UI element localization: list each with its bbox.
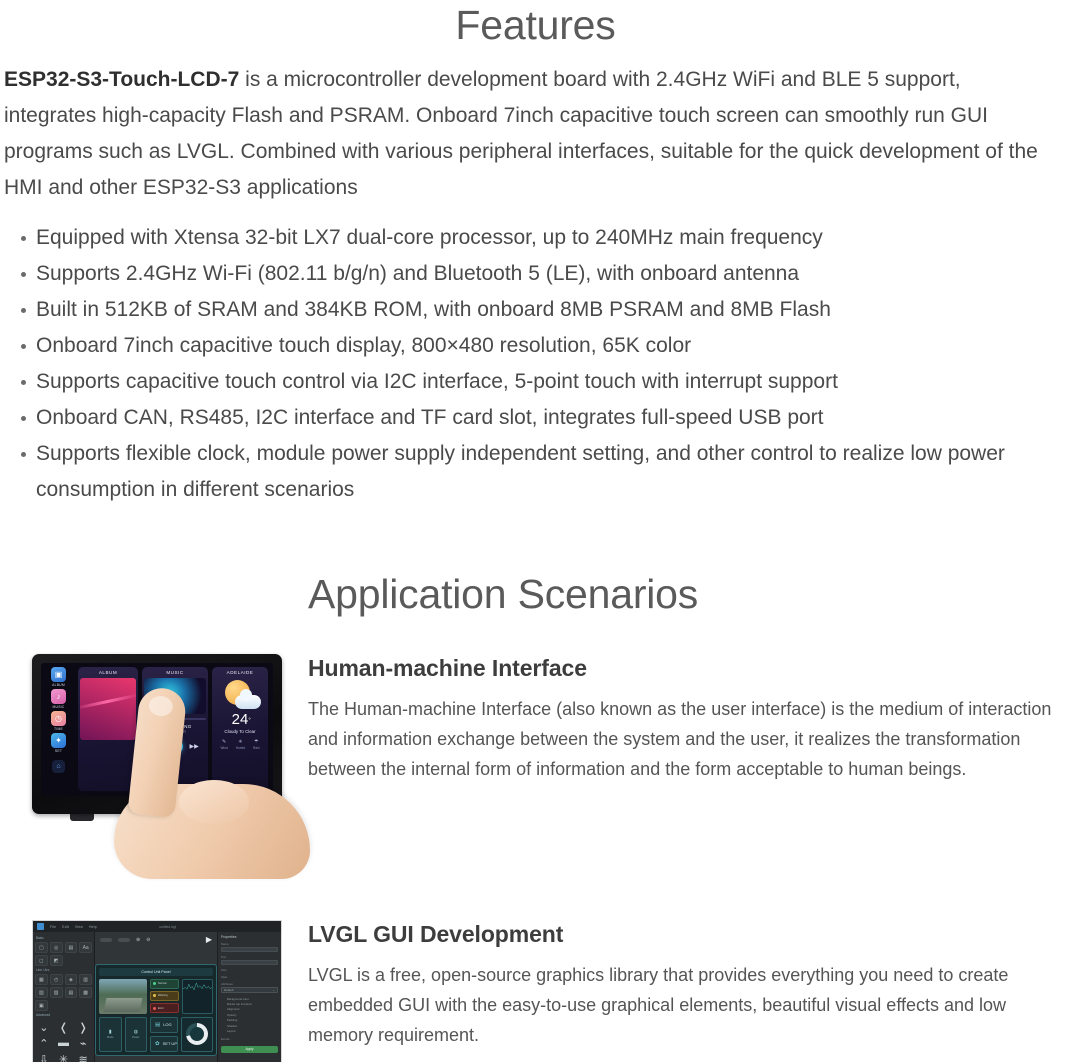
gear-icon: ✿ xyxy=(155,1041,160,1047)
mode-tiles: ▮ Mode ◍ Power xyxy=(99,1017,147,1052)
intro-paragraph: ESP32-S3-Touch-LCD-7 is a microcontrolle… xyxy=(0,48,1071,206)
rain-icon: ☂ xyxy=(254,739,258,745)
dashboard-buttons: ▤ LOG ✿ SET UP xyxy=(150,1017,178,1052)
canvas-toolbar: ⊕ ⊖ ▶ xyxy=(95,935,217,944)
song-title: GREAT SONG xyxy=(158,724,191,729)
sidebar-item-album: ▣ ALBUM xyxy=(41,667,76,687)
weather-condition: Cloudy To Clear xyxy=(224,729,255,734)
degree-symbol: ° xyxy=(248,713,250,729)
properties-panel: Properties Name Text Size Style Attribut… xyxy=(217,932,281,1062)
menu-file[interactable]: File xyxy=(50,925,56,929)
card-weather: ADELAIDE 24° Cloudy To Clear ✎ Wind xyxy=(212,667,268,791)
wind-icon: ✎ xyxy=(222,739,226,745)
sidebar-label: ALBUM xyxy=(52,683,65,687)
previous-icon: ◀◀ xyxy=(151,743,160,750)
setup-button[interactable]: ✿ SET UP xyxy=(150,1036,178,1052)
gauge-dial xyxy=(186,1023,208,1045)
heat-icon[interactable]: ≋ xyxy=(74,1052,92,1062)
palette-tile[interactable]: ◴ xyxy=(50,974,63,985)
button-label: LOG xyxy=(163,1022,171,1027)
apply-button[interactable]: Apply xyxy=(221,1046,278,1053)
song-composer: COMPOSER xyxy=(164,730,186,734)
lvgl-editor-image: File Edit View Help untitled.lvgl Basic … xyxy=(32,920,282,1062)
menu-edit[interactable]: Edit xyxy=(62,925,69,929)
camera-feed xyxy=(99,979,147,1014)
list-item: Onboard 7inch capacitive touch display, … xyxy=(36,328,1061,364)
app-logo-icon xyxy=(37,923,44,930)
palette-tile[interactable]: ▥ xyxy=(79,974,92,985)
properties-title: Properties xyxy=(221,935,278,939)
screen-indicator xyxy=(145,807,157,809)
progress-bar xyxy=(144,718,206,720)
waveform-chart xyxy=(182,979,213,1014)
chevron-up-icon[interactable]: ⌃ xyxy=(35,1036,53,1050)
card-title: MUSIC xyxy=(166,670,183,675)
home-icon: ⌂ xyxy=(52,760,65,773)
status-row: Warning xyxy=(150,991,179,1001)
product-page: Features ESP32-S3-Touch-LCD-7 is a micro… xyxy=(0,0,1071,1062)
mode-icon: ▮ xyxy=(109,1029,112,1035)
tile-label: Power xyxy=(132,1036,139,1039)
select-value: Default xyxy=(224,988,234,992)
property-input-name[interactable] xyxy=(221,947,278,952)
sidebar-label: TIME xyxy=(54,727,63,731)
temperature-value: 24° xyxy=(232,712,249,728)
status-dot-error xyxy=(153,1007,156,1010)
dashboard-row-top: Normal Warning Error xyxy=(99,979,213,1014)
scenario-title: LVGL GUI Development xyxy=(308,920,1071,948)
arrow-palette: ⌄ ❬ ❭ ⌃ ▬ ⌁ ⇩ ✳ ≋ xyxy=(35,1020,92,1062)
card-title: ADELAIDE xyxy=(227,670,254,675)
scenario-title: Human-machine Interface xyxy=(308,654,1071,682)
list-item[interactable]: Layout xyxy=(221,1028,278,1033)
metric-label: Rain xyxy=(253,746,260,750)
dashboard-row-bottom: ▮ Mode ◍ Power ▤ xyxy=(99,1017,213,1052)
palette-section-label: Line / Arc xyxy=(36,968,92,972)
next-icon: ▶▶ xyxy=(190,743,199,750)
tile-power[interactable]: ◍ Power xyxy=(125,1017,148,1052)
bar-icon[interactable]: ▬ xyxy=(55,1036,73,1050)
album-cover-art xyxy=(80,678,136,740)
toolbar-chip[interactable] xyxy=(100,938,112,942)
list-item: Supports capacitive touch control via I2… xyxy=(36,364,1061,400)
clock-icon: ◷ xyxy=(51,711,66,726)
zoom-out-icon[interactable]: ⊖ xyxy=(146,937,150,943)
list-item: Supports 2.4GHz Wi-Fi (802.11 b/g/n) and… xyxy=(36,256,1061,292)
hmi-device-image: ▣ ALBUM ♪ MUSIC ◷ TIME ✦ xyxy=(32,654,282,879)
wave-icon[interactable]: ⌁ xyxy=(74,1036,92,1050)
snowflake-icon[interactable]: ✳ xyxy=(55,1052,73,1062)
sidebar-item-set: ✦ SET xyxy=(41,733,76,753)
palette-tile[interactable]: ▩ xyxy=(79,987,92,998)
weather-metric: ✎ Wind xyxy=(220,739,227,750)
zoom-in-icon[interactable]: ⊕ xyxy=(136,937,140,943)
waveform-svg xyxy=(183,980,212,992)
temperature-number: 24 xyxy=(232,711,249,728)
chevron-right-icon[interactable]: ❭ xyxy=(74,1020,92,1034)
status-row: Error xyxy=(150,1003,179,1013)
document-title: untitled.lvgl xyxy=(159,925,176,929)
playback-controls: ◀◀ ▶ ▶▶ xyxy=(151,739,198,754)
sidebar-item-time: ◷ TIME xyxy=(41,711,76,731)
attribute-list: Background color Border top & bottom Ali… xyxy=(221,996,278,1034)
status-row: Normal xyxy=(150,979,179,989)
device-bezel: ▣ ALBUM ♪ MUSIC ◷ TIME ✦ xyxy=(32,654,282,814)
palette-tile[interactable]: ▦ xyxy=(35,974,48,985)
scenario-body: LVGL is a free, open-source graphics lib… xyxy=(308,960,1053,1050)
scenario-body: The Human-machine Interface (also known … xyxy=(308,694,1053,784)
scenario-lvgl-gui-development: File Edit View Help untitled.lvgl Basic … xyxy=(0,920,1071,1050)
palette-grid: ▢ ◎ ▤ Aa ◻ ◩ xyxy=(35,942,92,966)
events-label: Events xyxy=(221,1037,278,1041)
status-label: Warning xyxy=(158,994,168,997)
palette-tile[interactable]: ▤ xyxy=(65,942,78,953)
chevron-left-icon[interactable]: ❬ xyxy=(55,1020,73,1034)
screen-cards: ALBUM MUSIC GREAT SONG COMPOSER ◀◀ ▶ xyxy=(76,663,273,796)
palette-grid: ▦ ◴ ◈ ▥ ▧ ▨ ▤ ▩ ▣ xyxy=(35,974,92,1011)
palette-tile[interactable]: ▣ xyxy=(35,1000,48,1011)
palette-tile[interactable]: ▢ xyxy=(35,942,48,953)
property-label: Name xyxy=(221,942,278,946)
toolbar-chip[interactable] xyxy=(118,938,130,942)
page-title-application-scenarios: Application Scenarios xyxy=(0,570,1071,618)
palette-tile[interactable]: ▤ xyxy=(65,987,78,998)
palette-tile[interactable]: ▨ xyxy=(50,987,63,998)
weather-metric: ☂ Rain xyxy=(253,739,260,750)
status-label: Normal xyxy=(158,982,166,985)
property-label: Size xyxy=(221,968,278,972)
dashboard-preview: Control Unit Panel Normal Warnin xyxy=(95,964,217,1056)
editor-body: Basic ▢ ◎ ▤ Aa ◻ ◩ Line / Arc ▦ ◴ ◈ ▥ xyxy=(33,932,281,1062)
palette-tile[interactable]: ▧ xyxy=(35,987,48,998)
list-item: Built in 512KB of SRAM and 384KB ROM, wi… xyxy=(36,292,1061,328)
down-arrow-icon[interactable]: ⇩ xyxy=(35,1052,53,1062)
list-item: Onboard CAN, RS485, I2C interface and TF… xyxy=(36,400,1061,436)
cloud-shape xyxy=(235,695,261,709)
weather-metrics: ✎ Wind ✳ Humid ☂ Rain xyxy=(220,739,259,750)
metric-label: Wind xyxy=(220,746,227,750)
page-title-features: Features xyxy=(0,0,1071,48)
widget-palette: Basic ▢ ◎ ▤ Aa ◻ ◩ Line / Arc ▦ ◴ ◈ ▥ xyxy=(33,932,95,1062)
screen-sidebar: ▣ ALBUM ♪ MUSIC ◷ TIME ✦ xyxy=(41,663,76,796)
sidebar-label: SET xyxy=(55,749,62,753)
palette-tile[interactable]: ◩ xyxy=(50,955,63,966)
power-icon: ◍ xyxy=(134,1029,138,1035)
gear-icon: ✦ xyxy=(51,733,66,748)
board-name: ESP32-S3-Touch-LCD-7 xyxy=(4,68,239,91)
sidebar-item-music: ♪ MUSIC xyxy=(41,689,76,709)
palette-section-label: Basic xyxy=(36,936,92,940)
card-title: ALBUM xyxy=(99,670,117,675)
tile-mode[interactable]: ▮ Mode xyxy=(99,1017,122,1052)
palette-tile[interactable]: Aa xyxy=(79,942,92,953)
status-dot-normal xyxy=(153,982,156,985)
menu-help[interactable]: Help xyxy=(89,925,97,929)
list-item: Equipped with Xtensa 32-bit LX7 dual-cor… xyxy=(36,220,1061,256)
properties-section-label: Attributes xyxy=(221,982,278,986)
style-select[interactable]: Default ⌄ xyxy=(221,987,278,993)
chevron-down-icon: ⌄ xyxy=(272,988,275,992)
property-label: Text xyxy=(221,955,278,959)
editor-canvas: ⊕ ⊖ ▶ Control Unit Panel Normal xyxy=(95,932,217,1062)
gauge-widget xyxy=(181,1017,213,1052)
palette-tile[interactable]: ◈ xyxy=(65,974,78,985)
list-icon: ▤ xyxy=(155,1022,160,1028)
editor-titlebar: File Edit View Help untitled.lvgl xyxy=(33,921,281,932)
card-music: MUSIC GREAT SONG COMPOSER ◀◀ ▶ ▶▶ xyxy=(142,667,208,791)
scenario-human-machine-interface: ▣ ALBUM ♪ MUSIC ◷ TIME ✦ xyxy=(0,654,1071,894)
run-preview-button[interactable]: ▶ xyxy=(206,935,212,944)
property-label: Style xyxy=(221,975,278,979)
palette-section-label: Advanced xyxy=(36,1013,92,1017)
status-dot-warning xyxy=(153,994,156,997)
play-icon: ▶ xyxy=(168,739,183,754)
status-label: Error xyxy=(158,1007,164,1010)
humidity-icon: ✳ xyxy=(238,739,242,745)
music-note-icon: ♪ xyxy=(51,689,66,704)
status-list: Normal Warning Error xyxy=(150,979,179,1014)
weather-metric: ✳ Humid xyxy=(236,739,245,750)
button-label: SET UP xyxy=(163,1041,177,1046)
property-input-text[interactable] xyxy=(221,960,278,965)
music-cover-art xyxy=(144,678,206,714)
palette-tile[interactable]: ◻ xyxy=(35,955,48,966)
chevron-down-icon[interactable]: ⌄ xyxy=(35,1020,53,1034)
list-item: Supports flexible clock, module power su… xyxy=(36,436,1061,508)
card-album: ALBUM xyxy=(78,667,138,791)
device-screen: ▣ ALBUM ♪ MUSIC ◷ TIME ✦ xyxy=(41,663,273,796)
palette-tile[interactable]: ◎ xyxy=(50,942,63,953)
tile-label: Mode xyxy=(107,1036,114,1039)
log-button[interactable]: ▤ LOG xyxy=(150,1017,178,1033)
dashboard-title: Control Unit Panel xyxy=(99,968,213,976)
metric-label: Humid xyxy=(236,746,245,750)
sidebar-label: MUSIC xyxy=(53,705,65,709)
features-list: Equipped with Xtensa 32-bit LX7 dual-cor… xyxy=(0,220,1071,508)
sun-cloud-icon xyxy=(218,680,262,710)
menu-view[interactable]: View xyxy=(75,925,83,929)
album-icon: ▣ xyxy=(51,667,66,682)
